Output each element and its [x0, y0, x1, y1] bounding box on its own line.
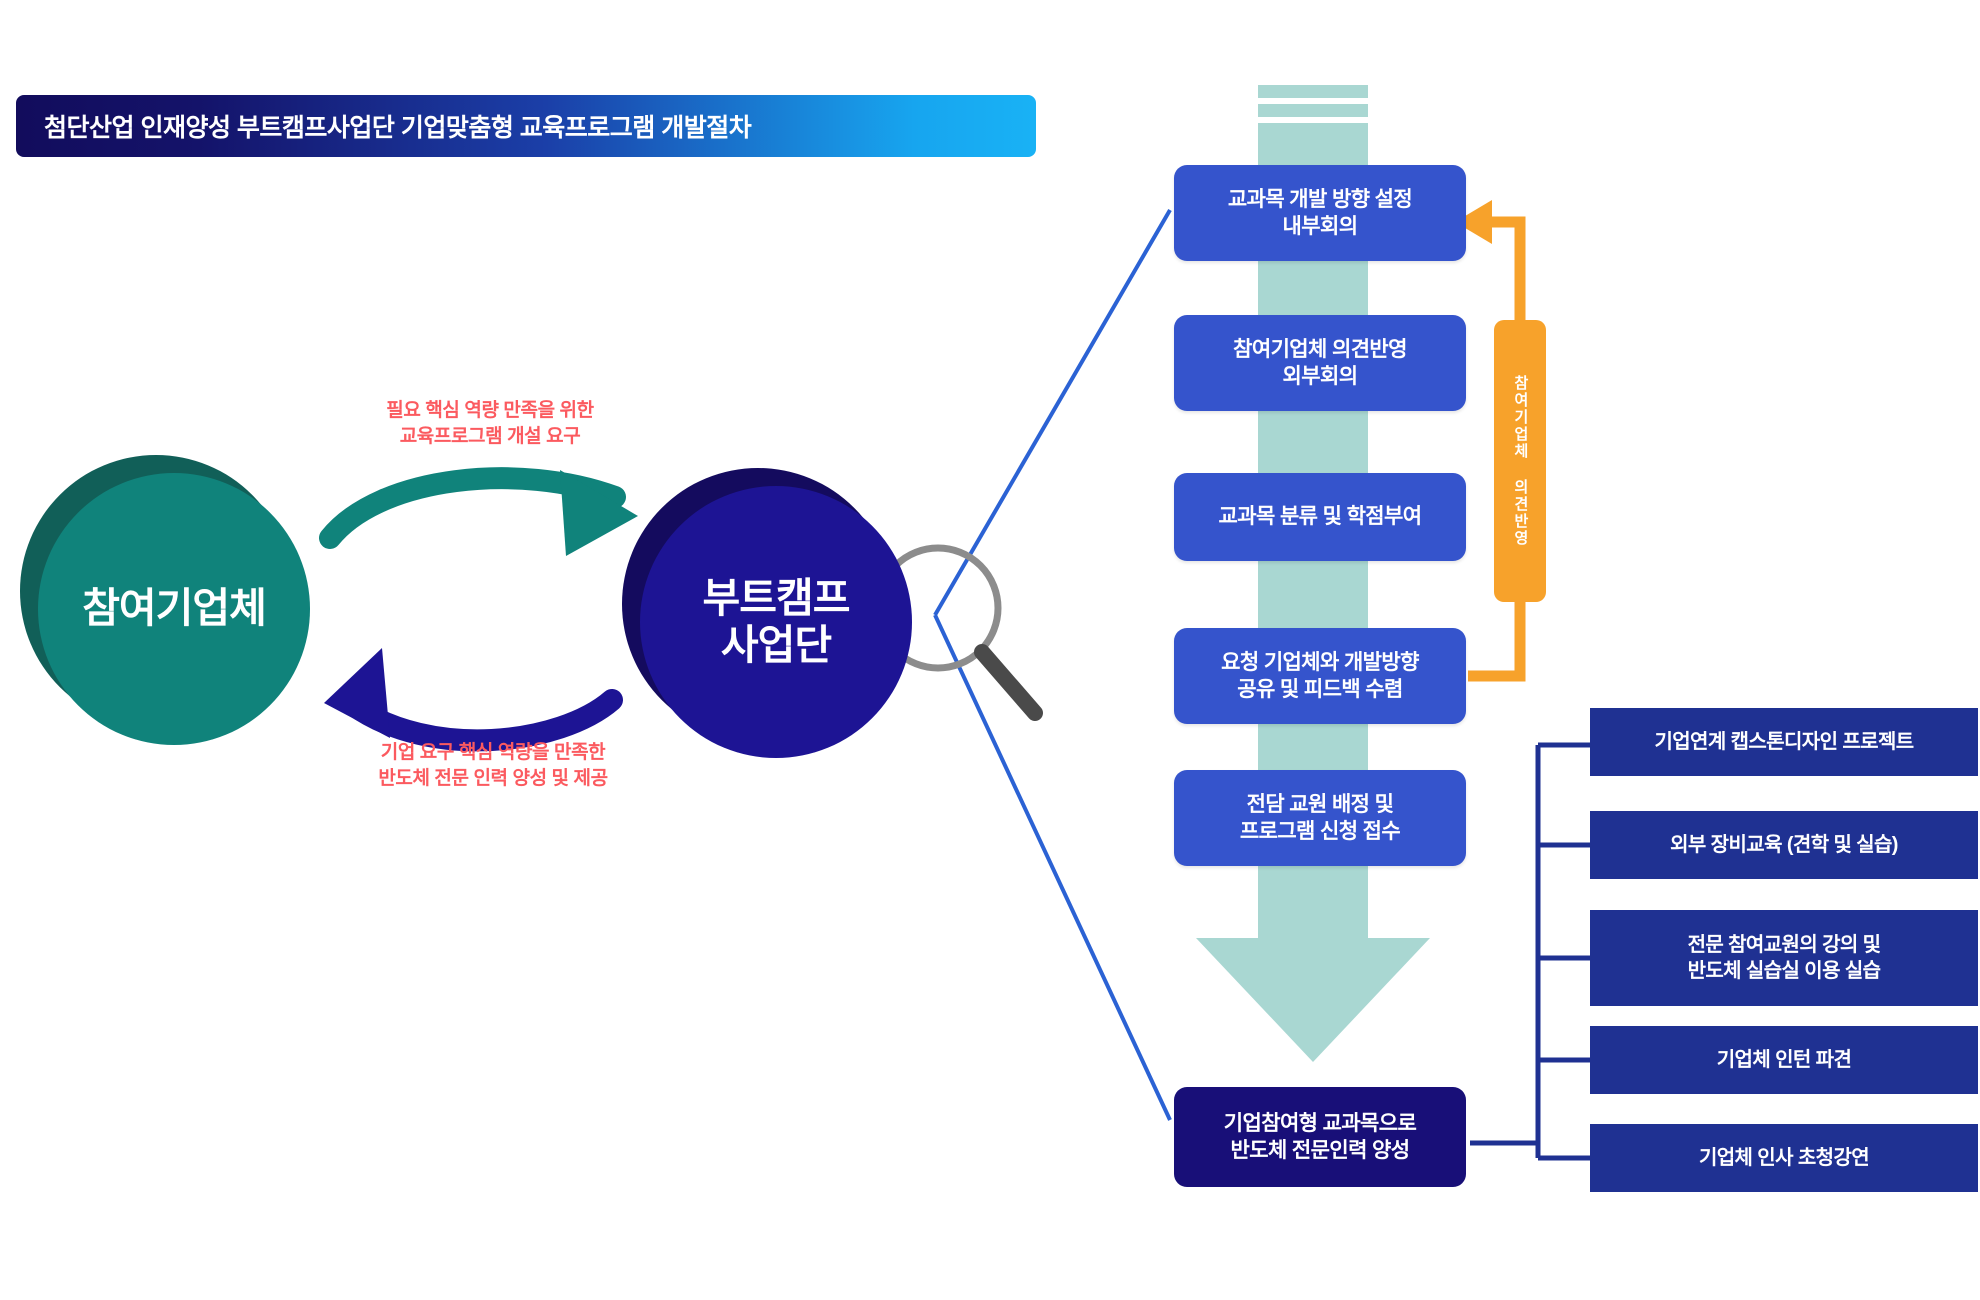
activity-box-1-label: 기업연계 캡스톤디자인 프로젝트	[1654, 729, 1913, 755]
process-outcome-box[interactable]: 기업참여형 교과목으로 반도체 전문인력 양성	[1174, 1087, 1466, 1187]
process-step-3[interactable]: 교과목 분류 및 학점부여	[1174, 473, 1466, 561]
activity-bracket	[1470, 745, 1590, 1158]
process-outcome-label: 기업참여형 교과목으로 반도체 전문인력 양성	[1224, 1110, 1416, 1165]
actor-circle-company[interactable]: 참여기업체	[20, 455, 310, 745]
process-step-2[interactable]: 참여기업체 의견반영 외부회의	[1174, 315, 1466, 411]
feedback-label-text: 참여기업체 의견반영	[1512, 375, 1528, 547]
process-step-3-label: 교과목 분류 및 학점부여	[1219, 503, 1422, 530]
feedback-label-badge: 참여기업체 의견반영	[1494, 320, 1546, 602]
company-circle-body: 참여기업체	[38, 473, 310, 745]
activity-box-2[interactable]: 외부 장비교육 (견학 및 실습)	[1590, 811, 1978, 879]
process-step-5-label: 전담 교원 배정 및 프로그램 신청 접수	[1240, 791, 1400, 846]
page-title: 첨단산업 인재양성 부트캠프사업단 기업맞춤형 교육프로그램 개발절차	[16, 108, 751, 144]
activity-box-4-label: 기업체 인턴 파견	[1717, 1047, 1852, 1073]
activity-box-2-label: 외부 장비교육 (견학 및 실습)	[1670, 832, 1898, 858]
activity-box-1[interactable]: 기업연계 캡스톤디자인 프로젝트	[1590, 708, 1978, 776]
process-step-5[interactable]: 전담 교원 배정 및 프로그램 신청 접수	[1174, 770, 1466, 866]
activity-box-5[interactable]: 기업체 인사 초청강연	[1590, 1124, 1978, 1192]
page-title-banner: 첨단산업 인재양성 부트캠프사업단 기업맞춤형 교육프로그램 개발절차	[16, 95, 1036, 157]
exchange-caption-request: 필요 핵심 역량 만족을 위한 교육프로그램 개설 요구	[330, 398, 650, 449]
bootcamp-circle-body: 부트캠프 사업단	[640, 486, 912, 758]
company-circle-label: 참여기업체	[82, 585, 266, 632]
exchange-caption-supply: 기업 요구 핵심 역량을 만족한 반도체 전문 인력 양성 및 제공	[318, 740, 668, 791]
activity-box-4[interactable]: 기업체 인턴 파견	[1590, 1026, 1978, 1094]
process-step-4-label: 요청 기업체와 개발방향 공유 및 피드백 수렴	[1221, 649, 1419, 704]
magnifier-zoom-lines	[935, 210, 1170, 1120]
process-step-4[interactable]: 요청 기업체와 개발방향 공유 및 피드백 수렴	[1174, 628, 1466, 724]
process-step-2-label: 참여기업체 의견반영 외부회의	[1233, 336, 1407, 391]
diagram-canvas: 첨단산업 인재양성 부트캠프사업단 기업맞춤형 교육프로그램 개발절차 참여기업…	[0, 0, 1980, 1300]
process-step-1[interactable]: 교과목 개발 방향 설정 내부회의	[1174, 165, 1466, 261]
activity-box-3[interactable]: 전문 참여교원의 강의 및 반도체 실습실 이용 실습	[1590, 910, 1978, 1006]
arrow-company-to-bootcamp	[330, 470, 638, 556]
process-step-1-label: 교과목 개발 방향 설정 내부회의	[1228, 186, 1412, 241]
bootcamp-circle-label: 부트캠프 사업단	[703, 575, 850, 669]
activity-box-3-label: 전문 참여교원의 강의 및 반도체 실습실 이용 실습	[1688, 932, 1881, 984]
actor-circle-bootcamp[interactable]: 부트캠프 사업단	[622, 468, 912, 758]
arrow-bootcamp-to-company	[324, 648, 612, 740]
activity-box-5-label: 기업체 인사 초청강연	[1699, 1145, 1869, 1171]
